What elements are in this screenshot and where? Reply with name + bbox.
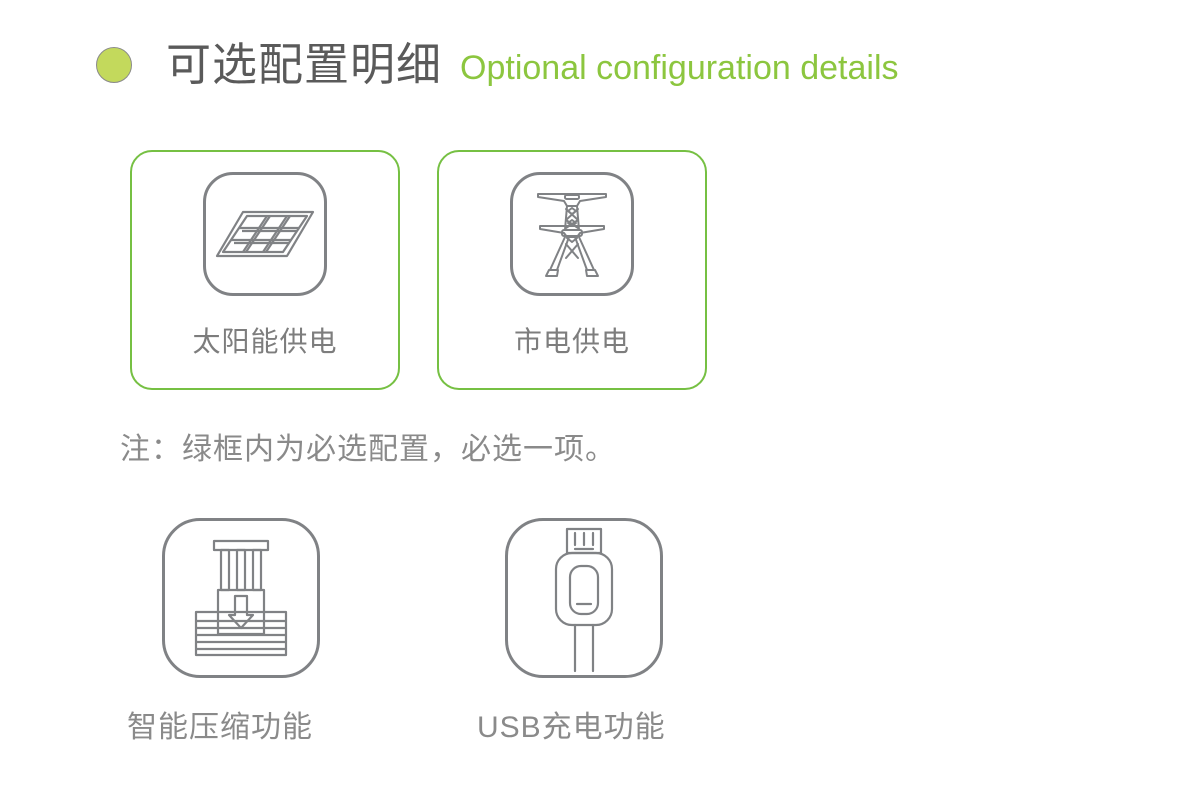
required-card-solar-power[interactable]: 太阳能供电 [130,150,400,390]
compactor-press-icon [162,518,320,678]
optional-item-usb-charging[interactable]: USB充电功能 [505,518,666,746]
power-pylon-icon [510,172,634,296]
usb-plug-icon [505,518,663,678]
optional-item-label: 智能压缩功能 [127,702,313,746]
page-title-cn: 可选配置明细 [166,42,442,87]
required-card-label: 太阳能供电 [192,320,337,360]
page-header: 可选配置明细 Optional configuration details [96,42,899,87]
solar-panel-icon [203,172,327,296]
required-card-grid-power[interactable]: 市电供电 [437,150,707,390]
config-note: 注：绿框内为必选配置，必选一项。 [120,424,616,468]
optional-item-label: USB充电功能 [477,702,666,746]
optional-item-compaction[interactable]: 智能压缩功能 [162,518,320,746]
bullet-circle-icon [96,47,132,83]
required-card-label: 市电供电 [514,320,630,360]
page-title-en: Optional configuration details [460,51,899,85]
